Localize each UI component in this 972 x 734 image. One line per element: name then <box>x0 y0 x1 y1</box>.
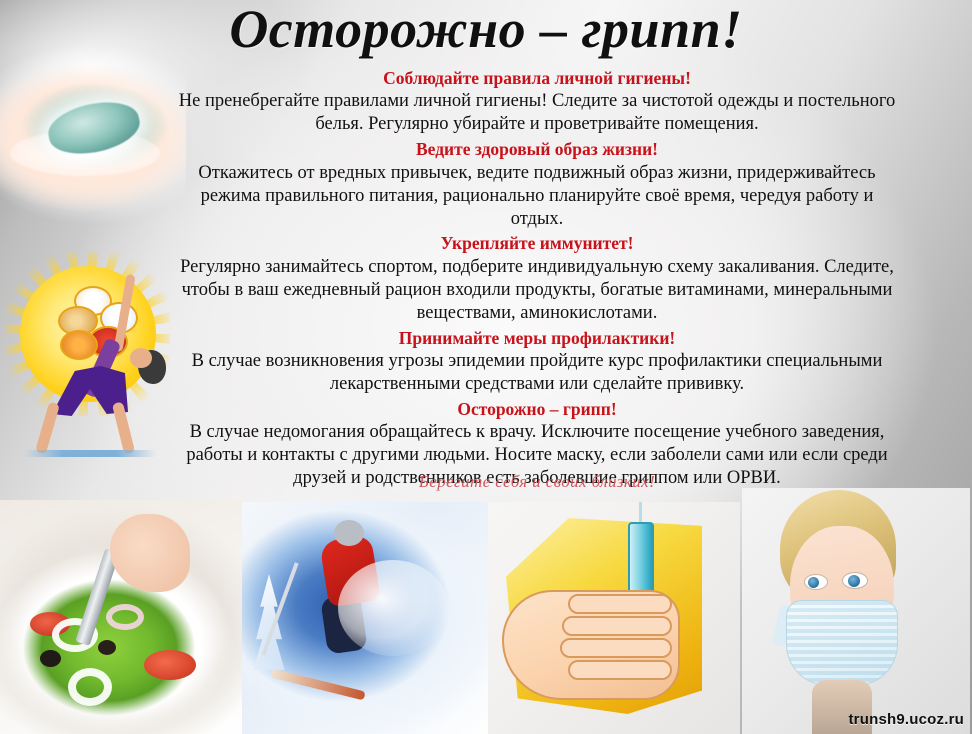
woman-wearing-medical-mask-photo <box>742 488 970 734</box>
fresh-salad-photo <box>0 500 244 734</box>
salad-tomato-slice <box>144 650 196 680</box>
site-watermark: trunsh9.ucoz.ru <box>848 711 964 728</box>
yoga-figure-ground <box>24 450 156 457</box>
section-heading-prophylaxis: Принимайте меры профилактики! <box>172 327 902 349</box>
section-body-lifestyle: Откажитесь от вредных привычек, ведите п… <box>172 162 902 231</box>
section-body-hygiene: Не пренебрегайте правилами личной гигиен… <box>172 90 902 136</box>
skier-helmet <box>334 520 364 546</box>
salad-olive <box>40 650 61 667</box>
food-plate-fruit <box>60 330 98 360</box>
hand-holding-syringe-illustration <box>488 502 740 734</box>
salad-hand <box>110 514 190 592</box>
section-heading-immunity: Укрепляйте иммунитет! <box>172 232 902 254</box>
influenza-prevention-poster: Осторожно – грипп! Соблюдайте правила ли… <box>0 0 972 734</box>
section-heading-hygiene: Соблюдайте правила личной гигиены! <box>172 67 902 89</box>
soap-lather <box>10 130 160 176</box>
snow-covered-tree <box>252 574 286 670</box>
syringe-hand-finger <box>568 594 672 614</box>
section-body-prophylaxis: В случае возникновения угрозы эпидемии п… <box>172 350 902 396</box>
section-heading-warning: Осторожно – грипп! <box>172 398 902 420</box>
poster-title: Осторожно – грипп! <box>0 1 972 58</box>
medical-mask <box>786 600 898 686</box>
salad-onion-ring <box>68 668 112 706</box>
yoga-figure-head <box>130 348 152 368</box>
closing-signature: Берегите себя и своих близких! <box>172 472 902 492</box>
syringe-hand-finger <box>568 660 672 680</box>
salad-olive <box>98 640 116 655</box>
salad-onion-ring <box>106 604 144 630</box>
woman-iris-right <box>848 575 860 587</box>
section-body-immunity: Регулярно занимайтесь спортом, подберите… <box>172 256 902 325</box>
syringe-hand-finger <box>562 616 672 636</box>
snow-spray <box>338 560 448 656</box>
poster-body: Соблюдайте правила личной гигиены! Не пр… <box>172 66 902 492</box>
woman-iris-left <box>808 577 819 588</box>
skis <box>270 669 365 701</box>
hands-washing-soap-photo <box>0 34 186 234</box>
sun-nutrition-exercise-illustration <box>8 252 188 464</box>
syringe-hand-finger <box>560 638 672 658</box>
skier-photo <box>242 502 494 734</box>
section-heading-lifestyle: Ведите здоровый образ жизни! <box>172 138 902 160</box>
